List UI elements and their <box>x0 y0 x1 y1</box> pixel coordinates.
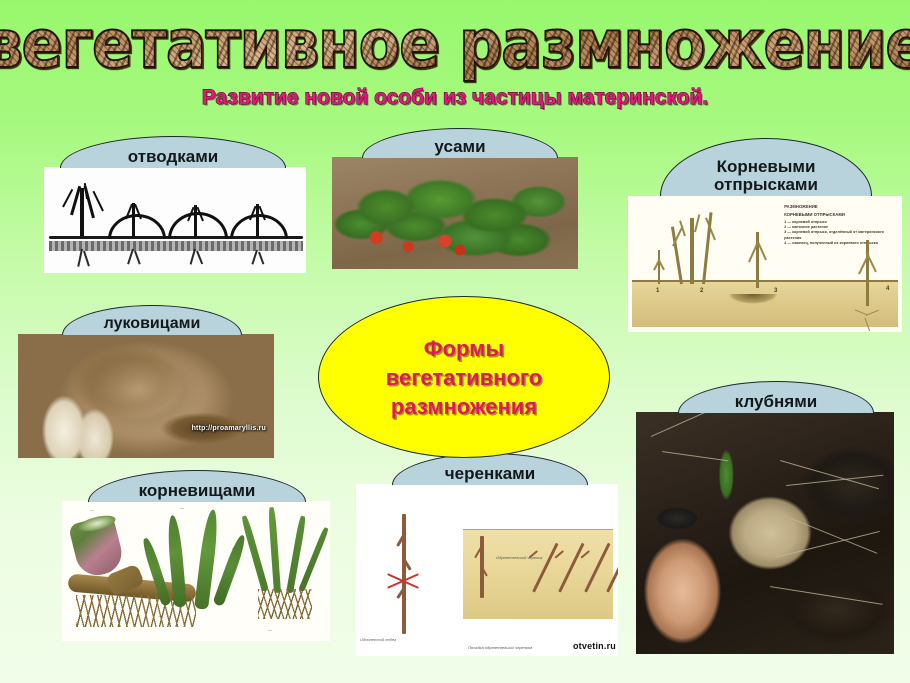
label-cap-klubnyami: клубнями <box>678 381 874 413</box>
form-label-lukovicami: луковицами <box>104 316 201 335</box>
legend-item-3: 3 — корневой отпрыск, отделённый от мате… <box>784 230 894 240</box>
label-cap-kornevishchami: корневищами <box>88 470 306 502</box>
form-label-cherenkami: черенками <box>445 465 535 485</box>
diagram-number-2: 2 <box>700 288 703 294</box>
form-label-kornevishchami: корневищами <box>139 482 256 502</box>
diagram-legend: РАЗМНОЖЕНИЕ КОРНЕВЫМИ ОТПРЫСКАМИ 1 — кор… <box>784 204 894 246</box>
form-label-otvodkami: отводками <box>128 148 218 168</box>
figure-cherenkami: Однолетний побег Одревесневший черенок П… <box>356 484 618 656</box>
cutting-label-left: Однолетний побег <box>360 637 412 642</box>
center-label-line3: размножения <box>391 392 537 421</box>
label-cap-kornevymi-otpryskami: Корневыми отпрысками <box>660 138 872 196</box>
watermark-otvetin: otvetin.ru <box>573 641 616 651</box>
center-label-line2: вегетативного <box>386 363 542 392</box>
diagram-title-line1: РАЗМНОЖЕНИЕ <box>784 204 894 210</box>
cutting-label-middle: Одревесневший черенок <box>496 555 554 560</box>
figure-klubnyami <box>636 412 894 654</box>
figure-otvodkami <box>44 167 306 273</box>
center-label-line1: Формы <box>424 334 504 363</box>
figure-lukovicami: http://proamaryllis.ru <box>18 334 274 458</box>
cutting-label-bottom: Посадка одревесневших черенков <box>468 645 564 650</box>
center-ellipse: Формы вегетативного размножения <box>318 296 610 458</box>
figure-kornevymi-otpryskami: РАЗМНОЖЕНИЕ КОРНЕВЫМИ ОТПРЫСКАМИ 1 — кор… <box>628 196 902 332</box>
label-cap-usami: усами <box>362 128 558 158</box>
slide-canvas: вегетативное размножение Развитие новой … <box>0 0 910 683</box>
diagram-number-4: 4 <box>886 286 889 292</box>
figure-usami <box>332 157 578 269</box>
form-label-usami: усами <box>434 138 485 158</box>
label-cap-cherenkami: черенками <box>392 453 588 485</box>
form-label-klubnyami: клубнями <box>735 393 817 413</box>
label-cap-otvodkami: отводками <box>60 136 286 168</box>
watermark-proamaryllis: http://proamaryllis.ru <box>192 425 266 432</box>
label-cap-lukovicami: луковицами <box>62 305 242 335</box>
form-label-kornevymi-otpryskami: Корневыми отпрысками <box>714 158 818 196</box>
legend-item-4: 4 — саженец, полученный из корневого отп… <box>784 241 894 246</box>
figure-kornevishchami: — — — — — <box>62 501 330 641</box>
page-title: вегетативное размножение <box>0 8 910 81</box>
diagram-number-1: 1 <box>656 288 659 294</box>
subtitle: Развитие новой особи из частицы материнс… <box>0 86 910 110</box>
diagram-title-line2: КОРНЕВЫМИ ОТПРЫСКАМИ <box>784 212 894 218</box>
title-container: вегетативное размножение <box>0 8 910 70</box>
